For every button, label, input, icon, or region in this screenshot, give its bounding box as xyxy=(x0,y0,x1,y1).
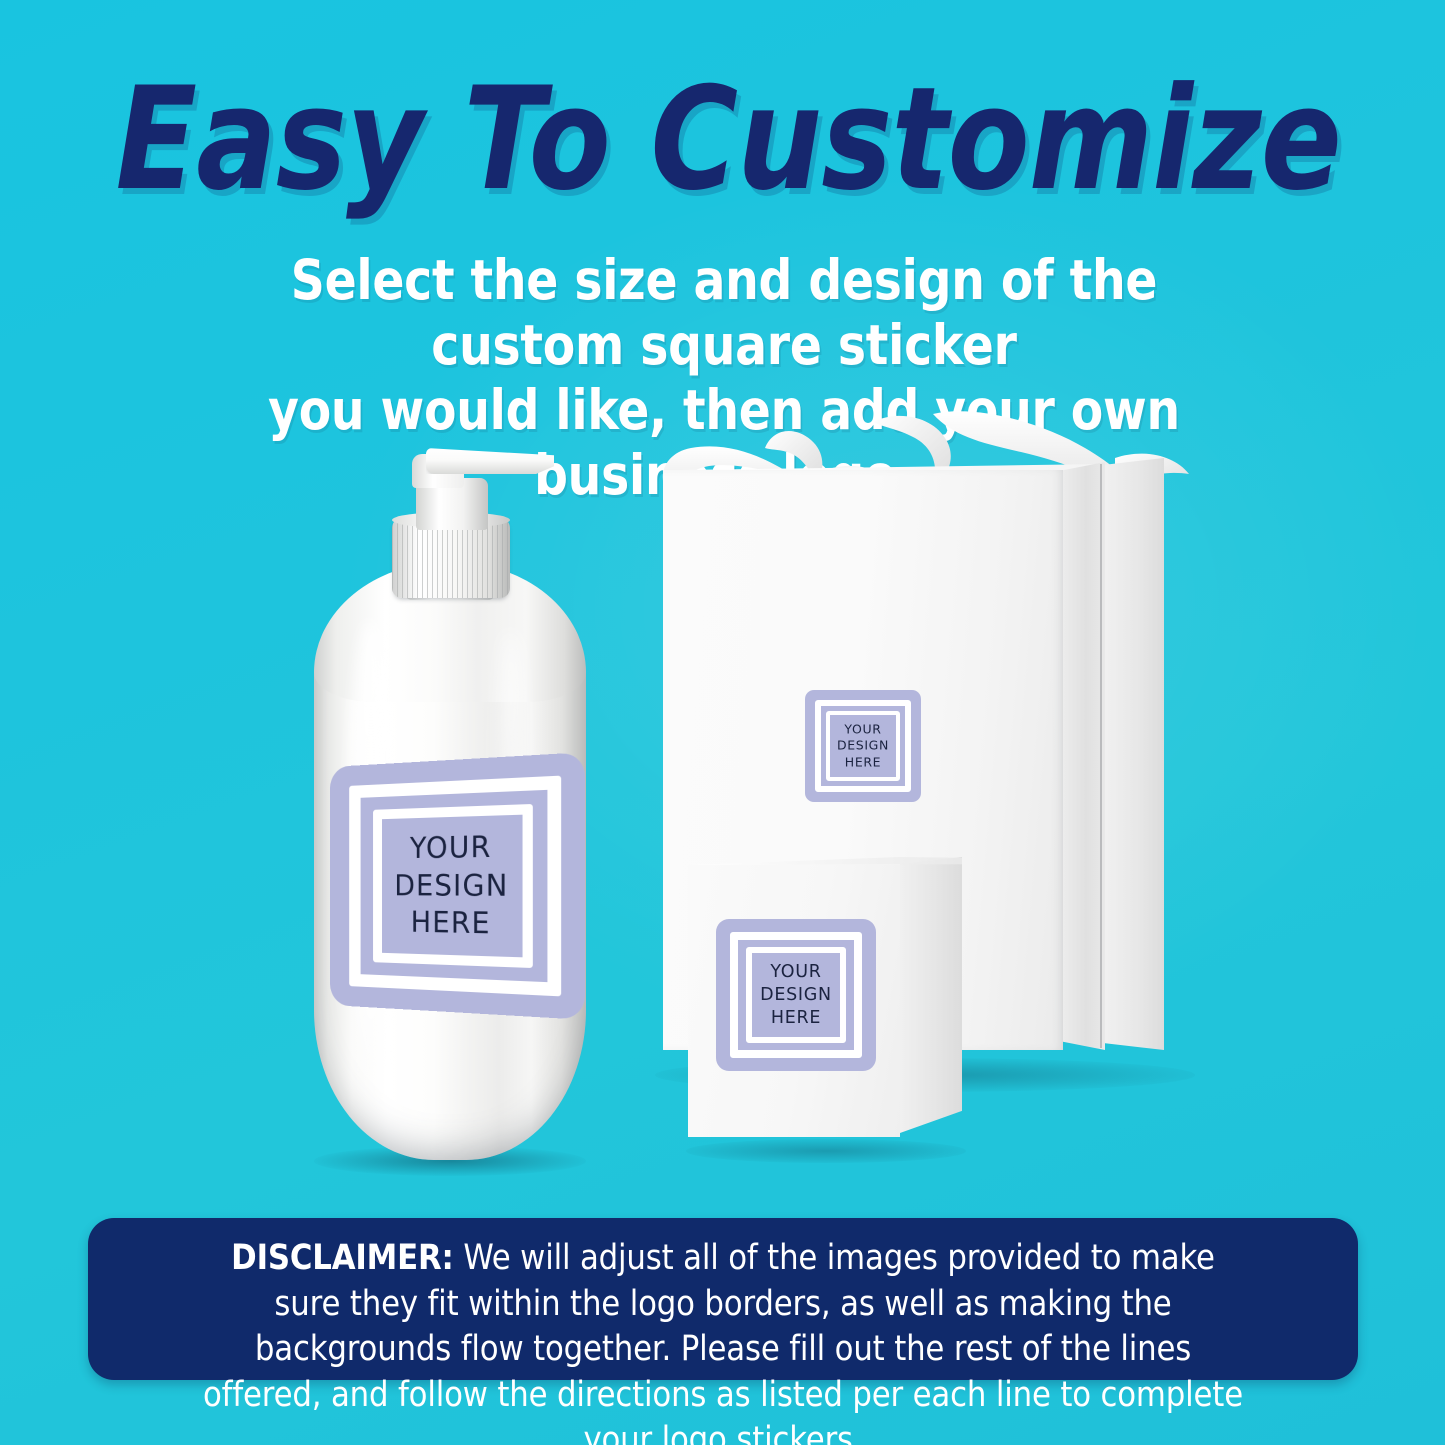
small-product-box-mockup: YOUR DESIGN HERE xyxy=(680,855,970,1155)
small-box-side-panel xyxy=(900,857,962,1133)
sticker-text-line-1: YOUR xyxy=(805,722,921,738)
gift-box-side-panel-far xyxy=(1102,458,1164,1050)
sticker-text-line-3: HERE xyxy=(805,754,921,770)
sticker-text-line-2: DESIGN xyxy=(330,866,585,906)
page-title: Easy To Customize xyxy=(116,68,1330,213)
sticker-text-line-3: HERE xyxy=(716,1006,876,1029)
gift-box-side-panel-near xyxy=(1063,462,1105,1050)
sticker-text-line-3: HERE xyxy=(330,904,585,946)
pump-nozzle-spout xyxy=(426,448,554,474)
sticker-text-line-1: YOUR xyxy=(330,826,585,868)
sticker-text: YOUR DESIGN HERE xyxy=(716,961,876,1029)
pump-bottle-mockup: YOUR DESIGN HERE xyxy=(300,430,600,1170)
sticker-on-small-box[interactable]: YOUR DESIGN HERE xyxy=(716,919,876,1071)
pump-ribbed-collar xyxy=(392,518,510,598)
sticker-text-line-1: YOUR xyxy=(716,961,876,984)
disclaimer-banner: DISCLAIMER: We will adjust all of the im… xyxy=(88,1218,1358,1380)
disclaimer-text: DISCLAIMER: We will adjust all of the im… xyxy=(196,1236,1250,1445)
sticker-text: YOUR DESIGN HERE xyxy=(805,722,921,771)
sticker-on-gift-box[interactable]: YOUR DESIGN HERE xyxy=(805,690,921,802)
sticker-text-line-2: DESIGN xyxy=(716,984,876,1007)
sticker-text: YOUR DESIGN HERE xyxy=(330,826,585,946)
promo-image-canvas: Easy To Customize Select the size and de… xyxy=(0,0,1445,1445)
sticker-on-bottle[interactable]: YOUR DESIGN HERE xyxy=(330,752,585,1020)
gift-box-seam xyxy=(1100,464,1102,1048)
disclaimer-label: DISCLAIMER: xyxy=(231,1238,454,1278)
small-box-shadow xyxy=(686,1139,966,1163)
sticker-text-line-2: DESIGN xyxy=(805,738,921,754)
subtitle-line-1: Select the size and design of the custom… xyxy=(191,248,1257,378)
